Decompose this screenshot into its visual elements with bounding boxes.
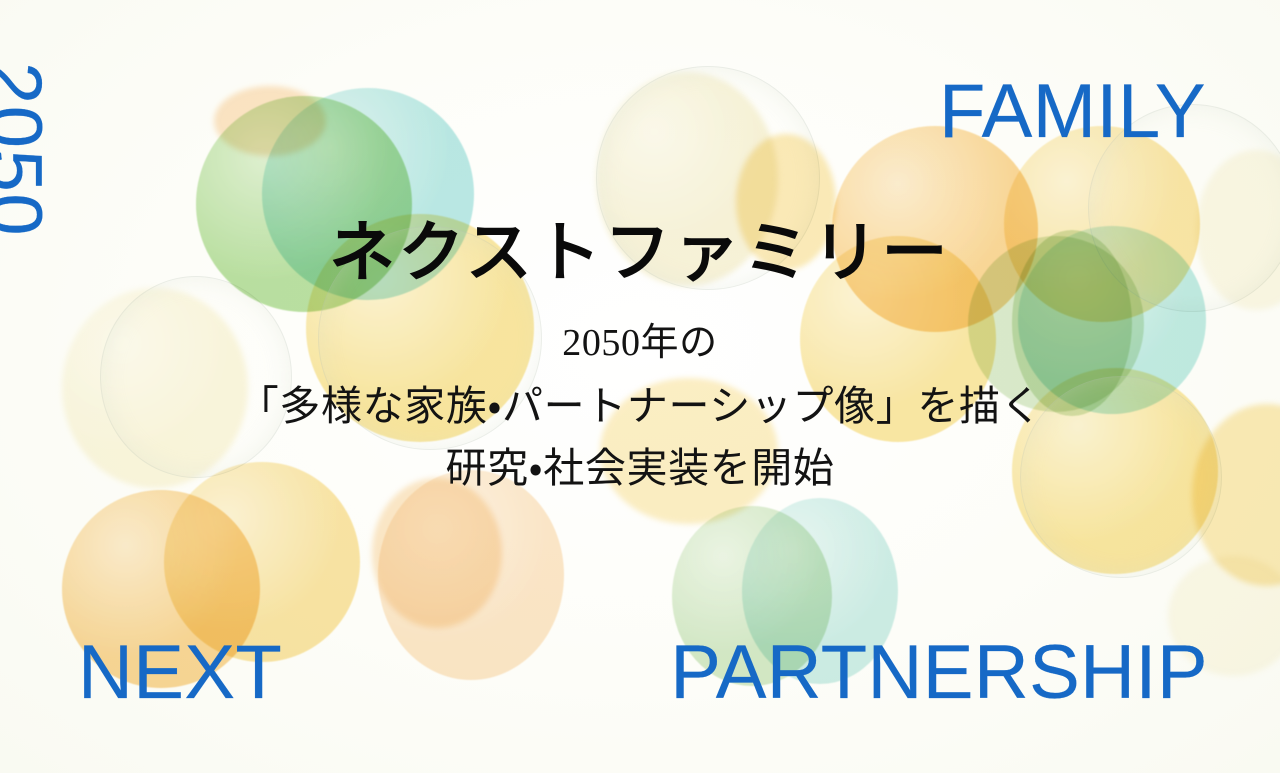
bubble-orange-wisp-top-left bbox=[214, 86, 326, 156]
bubble-orange-wisp-bottom-center bbox=[372, 478, 502, 628]
subtitle-line-1: 2050年の bbox=[0, 317, 1280, 371]
decor-word-family: FAMILY bbox=[939, 74, 1206, 150]
headline-block: ネクストファミリー 2050年の 「多様な家族・パートナーシップ像」を描く 研究… bbox=[0, 218, 1280, 497]
decor-word-next: NEXT bbox=[78, 635, 282, 711]
decor-word-partnership: PARTNERSHIP bbox=[670, 635, 1208, 711]
main-title: ネクストファミリー bbox=[0, 218, 1280, 291]
decor-word-2050: 2050 bbox=[0, 62, 52, 237]
subtitle-line-2: 「多様な家族・パートナーシップ像」を描く bbox=[0, 377, 1280, 435]
subtitle-line-3: 研究・社会実装を開始 bbox=[0, 439, 1280, 497]
poster-canvas: 2050 FAMILY NEXT PARTNERSHIP ネクストファミリー 2… bbox=[0, 0, 1280, 773]
